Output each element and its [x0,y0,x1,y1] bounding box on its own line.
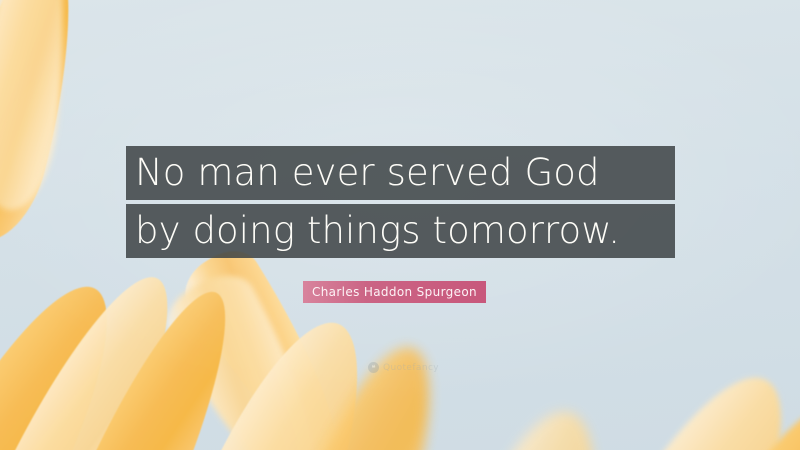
watermark-label: Quotefancy [383,363,439,373]
author-badge: Charles Haddon Spurgeon [303,281,486,303]
quote-card: No man ever served God by doing things t… [0,0,800,450]
quote-line-1: No man ever served God [126,146,675,200]
watermark: ❝ Quotefancy [368,362,439,373]
petal-bottom-far-icon [433,394,627,450]
quote-line-2: by doing things tomorrow. [126,204,675,258]
quote-block: No man ever served God by doing things t… [126,146,675,258]
quote-mark-icon: ❝ [368,362,379,373]
